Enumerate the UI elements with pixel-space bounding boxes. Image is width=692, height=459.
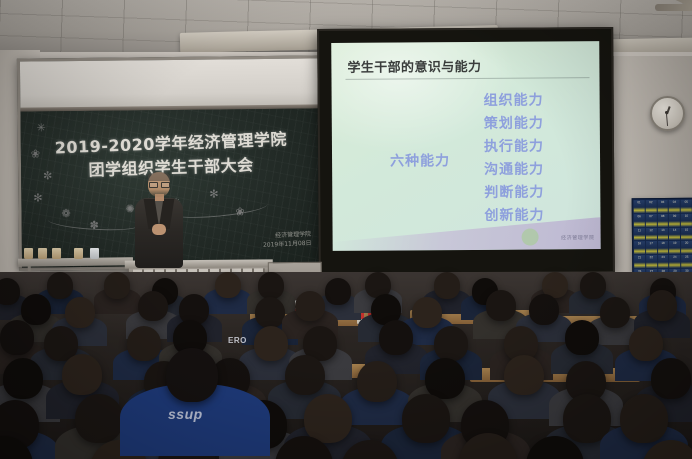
audience-member-head [295,291,325,322]
audience-member-head [629,326,663,361]
audience-member-head [379,320,413,355]
organizer-pocket: 10 [681,214,692,227]
chalk-flower-icon: ✻ [209,188,218,201]
organizer-pocket: 02 [645,200,656,213]
organizer-pocket: 24 [670,255,681,268]
slide-footer-logo-text: 经济管理学院 [561,234,595,241]
presenter-hair [148,172,170,181]
audience-member-head [504,355,544,396]
slide-ability-item: 策划能力 [484,112,544,135]
slide-title-underline [345,77,589,80]
audience-member-head [104,272,130,299]
audience-member-head [620,394,668,443]
organizer-pocket: 12 [646,228,657,241]
organizer-pocket: 21 [634,255,645,268]
audience-area: ssup ERO [0,272,692,459]
audience-member-head [215,272,241,299]
organizer-pocket: 16 [634,242,645,255]
organizer-pocket: 14 [669,228,680,241]
jacket-logo-text: ssup [168,406,203,422]
lecture-hall-photo: ✳ ❀ ✼ ✻ ❁ ✽ ✺ ✳ ✻ ❀ 2019-2020学年经济管理学院 团学… [0,0,692,459]
organizer-pocket: 20 [681,241,692,254]
slide-ability-list: 组织能力 策划能力 执行能力 沟通能力 判断能力 创新能力 [484,89,545,227]
audience-member-head [47,272,73,299]
slide-logo-icon [522,228,539,245]
paper-cup [24,248,33,259]
audience-member-head [357,361,397,402]
paper-cup [52,248,61,259]
audience-member-head [62,354,102,395]
organizer-pocket: 09 [669,214,680,227]
chalk-flower-icon: ✳ [37,121,46,134]
audience-member-head [651,358,691,399]
shirt-logo-text: ERO [228,336,247,345]
audience-member-head [647,290,677,321]
audience-member-head [0,278,20,305]
paper-cup [38,248,47,259]
audience-member-head [425,358,465,399]
organizer-pocket: 07 [646,214,657,227]
paper-cup-group [22,248,127,260]
organizer-pocket: 18 [658,241,669,254]
audience-member-head [580,272,606,299]
audience-member-head [127,326,161,361]
audience-member-head [529,294,559,325]
audience-member-head [65,297,95,328]
glasses-lens [149,182,158,188]
audience-member-head [325,278,351,305]
organizer-pocket: 13 [657,228,668,241]
audience-member-head [486,290,516,321]
organizer-pocket: 17 [646,242,657,255]
audience-member-head [255,297,285,328]
audience-member-head [21,294,51,325]
organizer-pocket: 19 [669,241,680,254]
slide-ability-item: 执行能力 [484,135,544,158]
audience-member-head [0,320,34,355]
organizer-pocket: 01 [634,200,645,213]
paper-cup [74,248,83,259]
tissue-box [90,248,99,259]
slide-title: 学生干部的意识与能力 [347,56,481,76]
audience-member-head [304,394,352,443]
slide-ability-item: 组织能力 [484,89,544,112]
organizer-pocket: 15 [681,227,692,240]
projection-screen: 学生干部的意识与能力 六种能力 组织能力 策划能力 执行能力 沟通能力 判断能力… [317,27,615,275]
organizer-pocket: 06 [634,214,645,227]
clock-center-pin [665,111,668,114]
organizer-pocket: 23 [658,255,669,268]
presenter-hands [152,224,166,235]
audience-member-head [285,355,325,396]
organizer-pocket: 05 [681,200,692,213]
slide-left-label: 六种能力 [390,150,450,170]
organizer-pocket: 04 [669,200,680,213]
audience-member-head [434,272,460,299]
retracted-projection-screen [20,58,320,109]
audience-member-head [402,394,450,443]
audience-member-head [434,326,468,361]
chalkboard-signature: 经济管理学院 2019年11月08日 [263,230,312,250]
ceiling-fan [655,0,692,18]
slide-ability-item: 沟通能力 [484,158,544,181]
audience-member-head [600,297,630,328]
glasses-lens [161,182,170,188]
organizer-pocket: 11 [634,228,645,241]
wall-clock [650,96,685,131]
chalk-flower-icon: ✻ [33,191,42,204]
presenter [132,172,186,268]
clock-minute-hand [666,114,668,126]
organizer-pocket: 08 [657,214,668,227]
organizer-pocket: 22 [646,255,657,268]
audience-member-head [258,272,284,299]
audience-member-head [254,326,288,361]
audience-member-head [75,394,123,443]
audience-member-head [412,297,442,328]
audience-member-head [565,320,599,355]
slide-ability-item: 判断能力 [484,181,544,204]
audience-member-head [138,291,168,322]
organizer-pocket: 03 [657,200,668,213]
audience-member-head [166,348,218,402]
organizer-pocket: 25 [681,255,692,268]
glasses-icon [149,182,169,186]
presentation-slide: 学生干部的意识与能力 六种能力 组织能力 策划能力 执行能力 沟通能力 判断能力… [331,41,600,251]
audience-member-head [3,358,43,399]
